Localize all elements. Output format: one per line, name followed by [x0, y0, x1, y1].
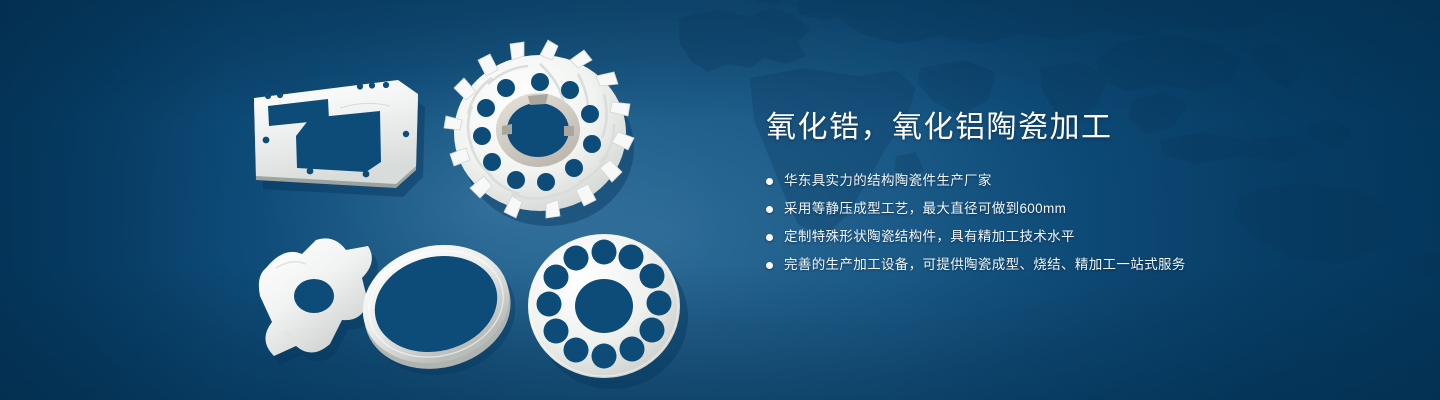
- ceramic-impeller: [442, 38, 642, 228]
- bullet-dot-icon: [766, 206, 773, 213]
- ceramic-ring: [350, 228, 530, 378]
- list-item-label: 华东具实力的结构陶瓷件生产厂家: [784, 170, 992, 192]
- ceramic-plate: [248, 78, 428, 198]
- copy-block: 氧化锆，氧化铝陶瓷加工 华东具实力的结构陶瓷件生产厂家 采用等静压成型工艺，最大…: [766, 108, 1386, 276]
- bullet-dot-icon: [766, 262, 773, 269]
- list-item-label: 完善的生产加工设备，可提供陶瓷成型、烧结、精加工一站式服务: [784, 254, 1186, 276]
- list-item: 采用等静压成型工艺，最大直径可做到600mm: [766, 198, 1386, 220]
- feature-list: 华东具实力的结构陶瓷件生产厂家 采用等静压成型工艺，最大直径可做到600mm 定…: [766, 170, 1386, 276]
- list-item: 完善的生产加工设备，可提供陶瓷成型、烧结、精加工一站式服务: [766, 254, 1386, 276]
- list-item: 华东具实力的结构陶瓷件生产厂家: [766, 170, 1386, 192]
- page-title: 氧化锆，氧化铝陶瓷加工: [766, 108, 1386, 148]
- list-item-label: 采用等静压成型工艺，最大直径可做到600mm: [784, 198, 1066, 220]
- list-item: 定制特殊形状陶瓷结构件，具有精加工技术水平: [766, 226, 1386, 248]
- product-photo: [230, 40, 710, 390]
- ceramic-disc: [518, 222, 698, 392]
- list-item-label: 定制特殊形状陶瓷结构件，具有精加工技术水平: [784, 226, 1075, 248]
- hero-banner: 氧化锆，氧化铝陶瓷加工 华东具实力的结构陶瓷件生产厂家 采用等静压成型工艺，最大…: [0, 0, 1440, 400]
- bullet-dot-icon: [766, 234, 773, 241]
- bullet-dot-icon: [766, 178, 773, 185]
